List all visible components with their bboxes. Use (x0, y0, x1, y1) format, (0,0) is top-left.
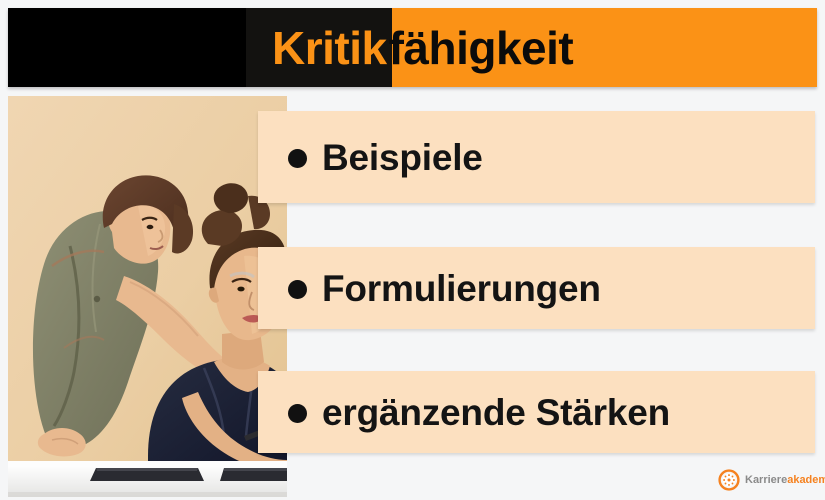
slide-title: Kritik fähigkeit (272, 8, 573, 87)
title-word-faehigkeit: fähigkeit (389, 25, 574, 71)
bullet-item-1: Formulierungen (258, 247, 815, 329)
bullet-item-0: Beispiele (258, 111, 815, 203)
photo-illustration (8, 96, 287, 497)
bullet-item-2: ergänzende Stärken (258, 371, 815, 453)
slide-canvas: Kritik fähigkeit (0, 0, 825, 500)
bullet-dot-icon (288, 404, 307, 423)
bullet-item-0-label: Beispiele (322, 139, 483, 176)
brand-logo-text-part-1: Karriere (745, 474, 787, 486)
bullet-item-2-label: ergänzende Stärken (322, 394, 670, 431)
bullet-dot-icon (288, 280, 307, 299)
brand-logo-text: Karriereakademie.de (745, 475, 825, 486)
brand-logo[interactable]: Karriereakademie.de (718, 466, 825, 494)
slide-title-bar: Kritik fähigkeit (8, 8, 817, 87)
karriereakademie-circle-logo-icon (718, 469, 740, 491)
bullet-item-1-label: Formulierungen (322, 270, 601, 307)
bullet-item-0-content: Beispiele (258, 139, 483, 176)
brand-logo-text-part-2: akademie (787, 474, 825, 486)
bullet-item-2-content: ergänzende Stärken (258, 394, 670, 431)
slide-photo (8, 96, 287, 497)
title-black-block-left (8, 8, 246, 87)
bullet-dot-icon (288, 149, 307, 168)
bullet-item-1-content: Formulierungen (258, 270, 601, 307)
title-word-kritik: Kritik (272, 25, 387, 71)
